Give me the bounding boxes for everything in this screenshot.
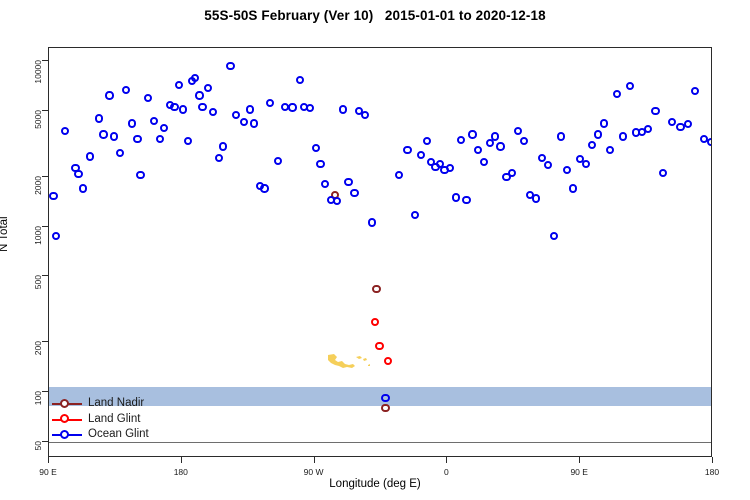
legend-item-land-glint[interactable]: Land Glint <box>52 412 212 428</box>
legend-marker-icon <box>60 430 69 439</box>
data-point <box>582 160 590 168</box>
data-point <box>136 171 144 179</box>
data-point <box>312 144 320 152</box>
data-point <box>128 119 136 127</box>
x-tick-label: 180 <box>705 467 719 477</box>
data-point <box>350 189 358 197</box>
data-point <box>496 142 504 150</box>
data-point <box>339 105 347 113</box>
data-point <box>86 152 94 160</box>
data-point <box>52 232 60 240</box>
data-point <box>344 178 352 186</box>
y-tick-label: 100 <box>33 391 43 405</box>
data-point <box>446 164 454 172</box>
data-point <box>594 130 602 138</box>
data-point <box>274 157 282 165</box>
data-point <box>588 141 596 149</box>
data-point <box>240 118 248 126</box>
data-point <box>79 184 87 192</box>
data-point <box>74 170 82 178</box>
data-point <box>372 285 380 293</box>
y-tick-label: 200 <box>33 341 43 355</box>
data-point <box>184 137 192 145</box>
y-tick-label: 2000 <box>33 176 43 195</box>
data-point <box>480 158 488 166</box>
data-point <box>452 193 460 201</box>
legend-marker-icon <box>60 414 69 423</box>
data-point <box>600 119 608 127</box>
legend-label: Land Nadir <box>88 396 144 411</box>
data-point <box>105 91 113 99</box>
data-point <box>260 184 268 192</box>
data-point <box>170 103 178 111</box>
y-tick-label: 1000 <box>33 226 43 245</box>
data-point <box>651 107 659 115</box>
y-axis-title: N Total <box>0 216 10 252</box>
data-point <box>246 105 254 113</box>
legend-label: Ocean Glint <box>88 427 149 442</box>
data-point <box>550 232 558 240</box>
data-point <box>606 146 614 154</box>
data-point <box>333 197 341 205</box>
y-tick-label: 10000 <box>33 60 43 84</box>
data-point <box>491 132 499 140</box>
data-point <box>160 124 168 132</box>
x-tick-mark <box>314 457 315 463</box>
coastline-inset-icon <box>325 353 371 375</box>
data-point <box>219 142 227 150</box>
data-point <box>684 120 692 128</box>
data-point <box>296 76 304 84</box>
legend-marker-icon <box>60 399 69 408</box>
x-tick-label: 180 <box>174 467 188 477</box>
x-tick-label: 90 E <box>570 467 588 477</box>
data-point <box>288 103 296 111</box>
data-point <box>403 146 411 154</box>
data-point <box>381 394 389 402</box>
data-point <box>468 130 476 138</box>
data-point <box>179 105 187 113</box>
data-point <box>707 138 712 146</box>
data-point <box>563 166 571 174</box>
data-point <box>626 82 634 90</box>
data-point <box>371 318 379 326</box>
data-point <box>122 86 130 94</box>
data-point <box>95 114 103 122</box>
legend-label: Land Glint <box>88 412 140 427</box>
data-point <box>557 132 565 140</box>
data-point <box>321 180 329 188</box>
data-point <box>619 132 627 140</box>
y-tick-label: 500 <box>33 275 43 289</box>
y-tick-label: 50 <box>33 441 43 450</box>
data-point <box>116 149 124 157</box>
data-point <box>49 192 57 200</box>
legend-item-land-nadir[interactable]: Land Nadir <box>52 396 212 412</box>
data-point <box>395 171 403 179</box>
x-tick-label: 90 W <box>304 467 324 477</box>
data-point <box>462 196 470 204</box>
x-axis-title: Longitude (deg E) <box>0 478 750 490</box>
data-point <box>417 151 425 159</box>
data-point <box>544 161 552 169</box>
data-point <box>569 184 577 192</box>
x-tick-mark <box>446 457 447 463</box>
data-point <box>532 194 540 202</box>
data-point <box>644 125 652 133</box>
data-point <box>150 117 158 125</box>
data-point <box>226 62 234 70</box>
data-point <box>457 136 465 144</box>
legend: Land NadirLand GlintOcean Glint <box>52 396 212 443</box>
data-point <box>266 99 274 107</box>
x-tick-mark <box>579 457 580 463</box>
data-point <box>361 111 369 119</box>
data-point <box>198 103 206 111</box>
legend-item-ocean-glint[interactable]: Ocean Glint <box>52 427 212 443</box>
data-point <box>306 104 314 112</box>
page-title: 55S-50S February (Ver 10) 2015-01-01 to … <box>0 8 750 23</box>
x-tick-mark <box>181 457 182 463</box>
data-point <box>316 160 324 168</box>
data-point <box>209 108 217 116</box>
x-tick-mark <box>712 457 713 463</box>
data-point <box>423 137 431 145</box>
data-point <box>215 154 223 162</box>
data-point <box>514 127 522 135</box>
data-point <box>375 342 383 350</box>
data-point <box>381 404 389 412</box>
data-point <box>508 169 516 177</box>
data-point <box>520 137 528 145</box>
x-tick-label: 0 <box>444 467 449 477</box>
data-point <box>99 130 107 138</box>
data-point <box>191 74 199 82</box>
data-point <box>61 127 69 135</box>
data-point <box>110 132 118 140</box>
data-point <box>144 94 152 102</box>
y-tick-label: 5000 <box>33 110 43 129</box>
data-point <box>411 211 419 219</box>
data-point <box>204 84 212 92</box>
x-tick-label: 90 E <box>39 467 57 477</box>
data-point <box>195 91 203 99</box>
data-point <box>175 81 183 89</box>
data-point <box>384 357 392 365</box>
data-point <box>368 218 376 226</box>
data-point <box>613 90 621 98</box>
data-point <box>691 87 699 95</box>
data-point <box>133 135 141 143</box>
data-point <box>659 169 667 177</box>
data-point <box>668 118 676 126</box>
data-point <box>250 119 258 127</box>
chart-screenshot: 55S-50S February (Ver 10) 2015-01-01 to … <box>0 0 750 500</box>
x-tick-mark <box>48 457 49 463</box>
data-point <box>156 135 164 143</box>
data-point <box>474 146 482 154</box>
data-point <box>232 111 240 119</box>
